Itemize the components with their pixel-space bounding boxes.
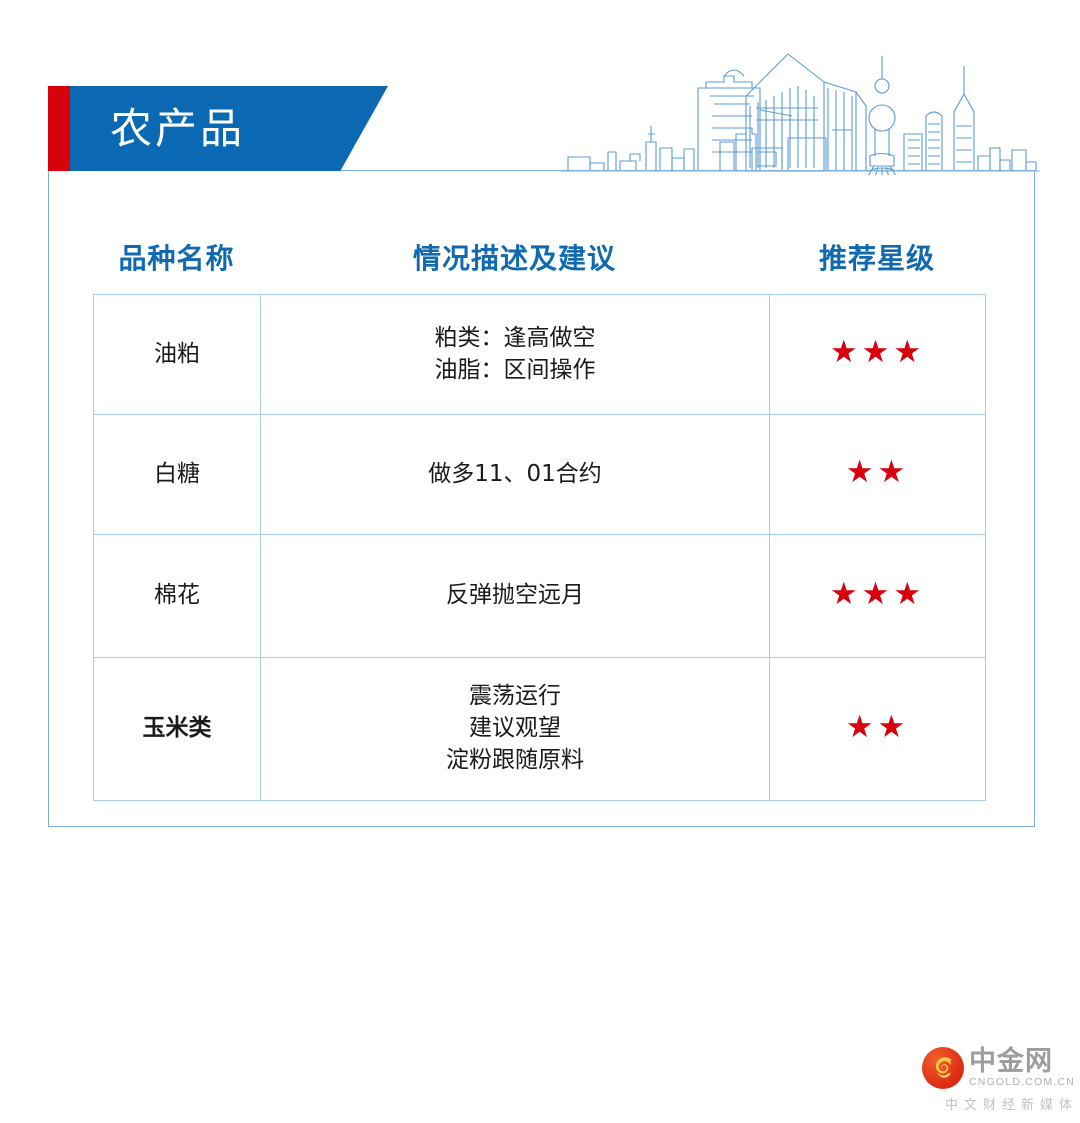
banner-accent-bar	[48, 86, 70, 171]
star-rating: ★★	[846, 454, 910, 490]
desc-line: 油脂：区间操作	[262, 355, 768, 387]
recommendation-table: 油粕 粕类：逢高做空 油脂：区间操作 ★★★ 白糖 做多11、01合约 ★★ 棉…	[93, 294, 986, 801]
logo-name: 中金网	[969, 1048, 1075, 1075]
site-logo: 中金网 CNGOLD.COM.CN 中文财经新媒体	[922, 1045, 1080, 1121]
cell-variety-name: 玉米类	[94, 658, 261, 801]
section-banner: 农产品	[48, 86, 388, 171]
desc-line: 建议观望	[262, 713, 768, 745]
cell-variety-name: 油粕	[94, 295, 261, 415]
cell-star-rating: ★★★	[770, 535, 986, 658]
cell-variety-name: 棉花	[94, 535, 261, 658]
desc-line: 反弹抛空远月	[262, 580, 768, 612]
table-row: 玉米类 震荡运行 建议观望 淀粉跟随原料 ★★	[94, 658, 986, 801]
cell-variety-name: 白糖	[94, 415, 261, 535]
table-header-row: 品种名称 情况描述及建议 推荐星级	[93, 222, 985, 292]
table-row: 油粕 粕类：逢高做空 油脂：区间操作 ★★★	[94, 295, 986, 415]
table-row: 棉花 反弹抛空远月 ★★★	[94, 535, 986, 658]
logo-url: CNGOLD.COM.CN	[969, 1075, 1075, 1089]
page-title: 农产品	[110, 86, 245, 171]
cell-description: 反弹抛空远月	[261, 535, 770, 658]
cell-star-rating: ★★	[770, 415, 986, 535]
cell-star-rating: ★★	[770, 658, 986, 801]
cell-star-rating: ★★★	[770, 295, 986, 415]
logo-tagline: 中文财经新媒体	[922, 1094, 1080, 1113]
cngold-spiral-icon	[922, 1047, 964, 1089]
column-header-stars: 推荐星级	[769, 237, 985, 277]
desc-line: 淀粉跟随原料	[262, 745, 768, 777]
star-rating: ★★	[846, 709, 910, 745]
cell-description: 做多11、01合约	[261, 415, 770, 535]
cell-description: 震荡运行 建议观望 淀粉跟随原料	[261, 658, 770, 801]
star-rating: ★★★	[830, 334, 925, 370]
column-header-name: 品种名称	[93, 237, 260, 277]
star-rating: ★★★	[830, 576, 925, 612]
desc-line: 粕类：逢高做空	[262, 323, 768, 355]
desc-line: 做多11、01合约	[262, 459, 768, 491]
table-row: 白糖 做多11、01合约 ★★	[94, 415, 986, 535]
table-body: 油粕 粕类：逢高做空 油脂：区间操作 ★★★ 白糖 做多11、01合约 ★★ 棉…	[94, 295, 986, 801]
skyline-illustration	[560, 30, 1040, 175]
desc-line: 震荡运行	[262, 681, 768, 713]
cell-description: 粕类：逢高做空 油脂：区间操作	[261, 295, 770, 415]
column-header-desc: 情况描述及建议	[260, 237, 769, 277]
